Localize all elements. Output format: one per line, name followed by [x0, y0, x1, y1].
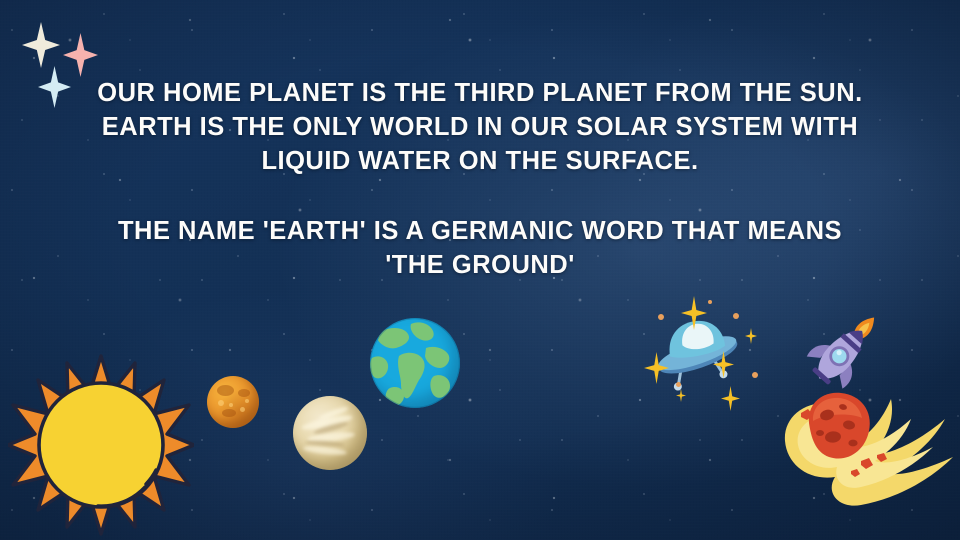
star-4point-icon — [676, 389, 686, 402]
sun-illustration — [8, 352, 194, 538]
fact-line: THE NAME 'EARTH' IS A GERMANIC WORD THAT… — [0, 214, 960, 248]
sun-icon — [8, 352, 194, 538]
sparkle-cream-icon — [22, 22, 60, 68]
star-4point-icon — [721, 386, 740, 411]
space-facts-slide: OUR HOME PLANET IS THE THIRD PLANET FROM… — [0, 0, 960, 540]
fact-paragraph-two: THE NAME 'EARTH' IS A GERMANIC WORD THAT… — [0, 214, 960, 282]
comet-icon — [765, 385, 955, 520]
star-4point-icon — [713, 351, 734, 378]
fact-paragraph-one: OUR HOME PLANET IS THE THIRD PLANET FROM… — [0, 76, 960, 178]
accent-dot — [752, 372, 758, 378]
rocket-illustration — [805, 308, 883, 394]
fact-line: EARTH IS THE ONLY WORLD IN OUR SOLAR SYS… — [0, 110, 960, 144]
accent-dot — [658, 314, 664, 320]
accent-dot — [733, 313, 739, 319]
comet-illustration — [765, 385, 955, 520]
fact-line: 'THE GROUND' — [0, 248, 960, 282]
earth-icon — [370, 318, 460, 408]
fact-line: OUR HOME PLANET IS THE THIRD PLANET FROM… — [0, 76, 960, 110]
rocket-icon — [805, 308, 883, 394]
fact-line: LIQUID WATER ON THE SURFACE. — [0, 144, 960, 178]
accent-dot — [708, 300, 712, 304]
mars-planet-illustration — [207, 376, 259, 428]
accent-dot — [676, 382, 681, 387]
star-4point-icon — [681, 296, 707, 330]
star-4point-icon — [644, 352, 669, 384]
earth-planet-illustration — [370, 318, 460, 408]
venus-planet-illustration — [293, 396, 367, 470]
star-4point-icon — [745, 328, 757, 344]
